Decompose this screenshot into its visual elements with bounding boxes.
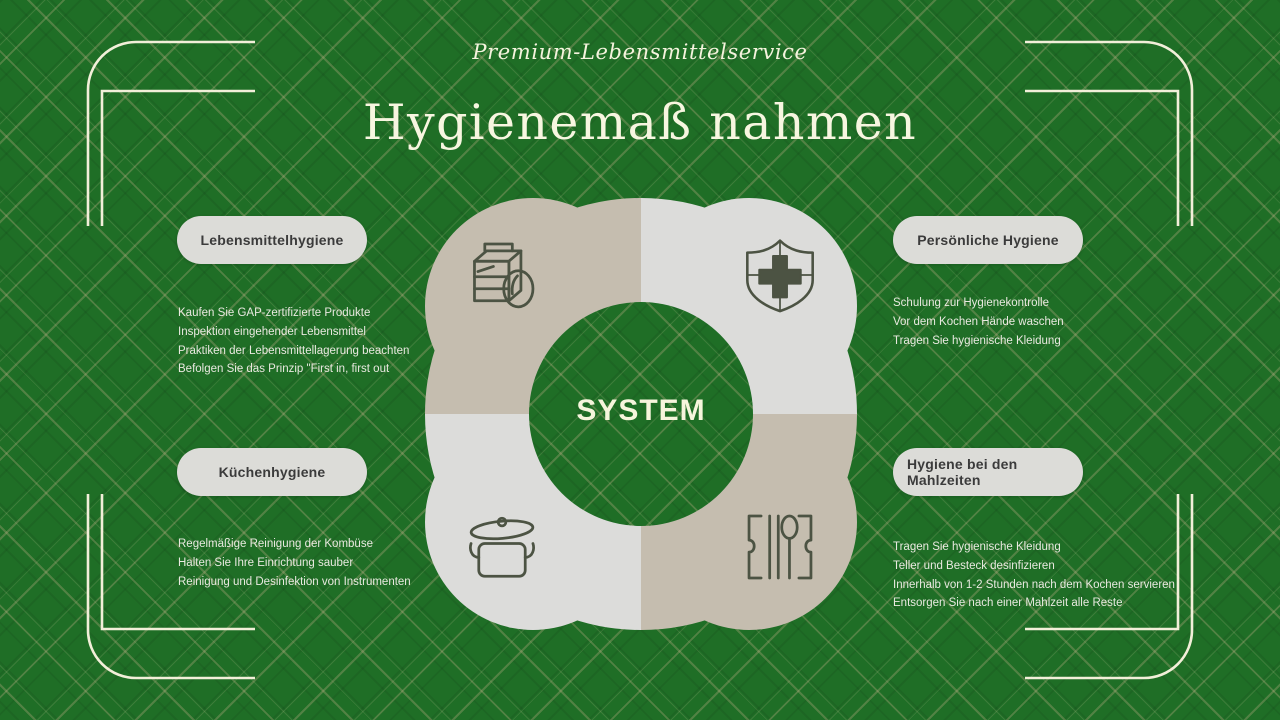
list-item: Regelmäßige Reinigung der Kombüse xyxy=(178,535,411,554)
pill-kuechenhygiene[interactable]: Küchenhygiene xyxy=(177,448,367,496)
cooking-pot-icon xyxy=(459,504,545,590)
list-item: Befolgen Sie das Prinzip "First in, firs… xyxy=(178,360,409,379)
bullet-list-food: Kaufen Sie GAP-zertifizierte Produkte In… xyxy=(178,304,409,379)
bullet-list-personal: Schulung zur Hygienekontrolle Vor dem Ko… xyxy=(893,294,1064,350)
pill-lebensmittelhygiene[interactable]: Lebensmittelhygiene xyxy=(177,216,367,264)
quatrefoil-diagram: SYSTEM xyxy=(425,198,857,630)
list-item: Tragen Sie hygienische Kleidung xyxy=(893,538,1175,557)
list-item: Vor dem Kochen Hände waschen xyxy=(893,313,1064,332)
list-item: Praktiken der Lebensmittellagerung beach… xyxy=(178,342,409,361)
pill-label: Persönliche Hygiene xyxy=(917,232,1059,248)
list-item: Reinigung und Desinfektion von Instrumen… xyxy=(178,573,411,592)
milk-carton-egg-icon xyxy=(459,232,545,318)
pill-hygiene-bei-den-mahlzeiten[interactable]: Hygiene bei den Mahlzeiten xyxy=(893,448,1083,496)
list-item: Innerhalb von 1-2 Stunden nach dem Koche… xyxy=(893,576,1175,595)
list-item: Entsorgen Sie nach einer Mahlzeit alle R… xyxy=(893,594,1175,613)
list-item: Kaufen Sie GAP-zertifizierte Produkte xyxy=(178,304,409,323)
bullet-list-kitchen: Regelmäßige Reinigung der Kombüse Halten… xyxy=(178,535,411,591)
list-item: Inspektion eingehender Lebensmittel xyxy=(178,323,409,342)
list-item: Schulung zur Hygienekontrolle xyxy=(893,294,1064,313)
list-item: Teller und Besteck desinfizieren xyxy=(893,557,1175,576)
pill-label: Hygiene bei den Mahlzeiten xyxy=(907,456,1069,488)
bullet-list-meal: Tragen Sie hygienische Kleidung Teller u… xyxy=(893,538,1175,613)
system-center-label: SYSTEM xyxy=(425,394,857,428)
pill-label: Lebensmittelhygiene xyxy=(200,232,343,248)
pill-persoenliche-hygiene[interactable]: Persönliche Hygiene xyxy=(893,216,1083,264)
shield-cross-icon xyxy=(737,232,823,318)
subtitle: Premium-Lebensmittelservice xyxy=(0,40,1280,64)
list-item: Tragen Sie hygienische Kleidung xyxy=(893,332,1064,351)
cutlery-icon xyxy=(737,504,823,590)
list-item: Halten Sie Ihre Einrichtung sauber xyxy=(178,554,411,573)
page-title: Hygienemaß nahmen xyxy=(0,94,1280,151)
pill-label: Küchenhygiene xyxy=(219,464,326,480)
